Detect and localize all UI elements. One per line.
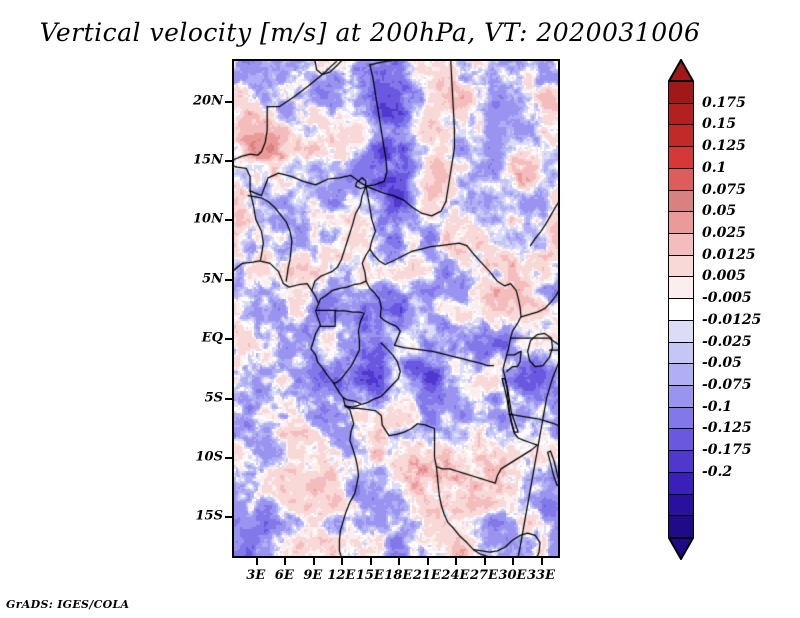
colorbar-tick-label: 0.075 xyxy=(702,182,746,198)
colorbar-tick-label: -0.05 xyxy=(702,355,742,371)
colorbar-tick-label: 0.005 xyxy=(702,268,746,284)
attribution-label: GrADS: IGES/COLA xyxy=(6,598,129,611)
colorbar: 0.1750.150.1250.10.0750.050.0250.01250.0… xyxy=(668,59,694,559)
map-plot-area: 20N15N10N5NEQ5S10S15S 3E6E9E12E15E18E21E… xyxy=(232,59,560,558)
latitude-tick-label: EQ xyxy=(202,331,223,346)
latitude-tick-label: 15S xyxy=(196,509,223,524)
colorbar-band xyxy=(668,255,694,278)
colorbar-tick-label: -0.005 xyxy=(702,290,752,306)
latitude-tick xyxy=(225,398,232,400)
colorbar-band xyxy=(668,168,694,191)
colorbar-tick-label: -0.025 xyxy=(702,334,752,350)
colorbar-tick-label: -0.075 xyxy=(702,377,752,393)
longitude-tick-label: 12E xyxy=(327,568,355,583)
colorbar-band xyxy=(668,428,694,451)
longitude-tick xyxy=(455,558,457,565)
colorbar-under-arrow xyxy=(668,537,694,559)
colorbar-tick-label: -0.1 xyxy=(702,399,732,415)
longitude-tick xyxy=(398,558,400,565)
colorbar-band xyxy=(668,385,694,408)
colorbar-band xyxy=(668,211,694,234)
colorbar-tick-label: 0.125 xyxy=(702,138,746,154)
longitude-tick xyxy=(341,558,343,565)
colorbar-band xyxy=(668,472,694,495)
colorbar-tick-label: 0.15 xyxy=(702,116,736,132)
longitude-tick-label: 3E xyxy=(246,568,265,583)
colorbar-band xyxy=(668,407,694,430)
longitude-tick-label: 9E xyxy=(303,568,322,583)
longitude-tick-label: 27E xyxy=(470,568,498,583)
longitude-tick-label: 15E xyxy=(356,568,384,583)
latitude-tick xyxy=(225,457,232,459)
colorbar-band xyxy=(668,233,694,256)
colorbar-over-arrow xyxy=(668,59,694,81)
colorbar-tick-label: 0.05 xyxy=(702,203,736,219)
colorbar-tick-label: 0.1 xyxy=(702,160,726,176)
latitude-tick xyxy=(225,160,232,162)
colorbar-band xyxy=(668,450,694,473)
latitude-tick xyxy=(225,219,232,221)
longitude-tick-label: 6E xyxy=(275,568,294,583)
colorbar-band xyxy=(668,298,694,321)
longitude-tick-label: 30E xyxy=(498,568,526,583)
colorbar-tick-label: -0.2 xyxy=(702,464,732,480)
longitude-tick xyxy=(541,558,543,565)
colorbar-band xyxy=(668,320,694,343)
colorbar-tick-label: 0.0125 xyxy=(702,247,756,263)
colorbar-band xyxy=(668,190,694,213)
longitude-tick xyxy=(284,558,286,565)
longitude-tick-label: 24E xyxy=(441,568,469,583)
latitude-tick xyxy=(225,279,232,281)
latitude-tick-label: 10S xyxy=(196,450,223,465)
longitude-tick xyxy=(370,558,372,565)
colorbar-tick-label: 0.175 xyxy=(702,95,746,111)
longitude-tick-label: 21E xyxy=(413,568,441,583)
colorbar-band xyxy=(668,124,694,147)
colorbar-band xyxy=(668,494,694,517)
page-title: Vertical velocity [m/s] at 200hPa, VT: 2… xyxy=(0,18,740,47)
colorbar-band xyxy=(668,363,694,386)
colorbar-tick-label: -0.0125 xyxy=(702,312,761,328)
longitude-tick xyxy=(313,558,315,565)
longitude-tick xyxy=(256,558,258,565)
longitude-tick xyxy=(512,558,514,565)
latitude-tick xyxy=(225,338,232,340)
latitude-tick-label: 15N xyxy=(193,152,223,167)
latitude-tick-label: 5N xyxy=(202,271,223,286)
colorbar-band xyxy=(668,146,694,169)
colorbar-tick-label: -0.125 xyxy=(702,420,752,436)
latitude-tick-label: 20N xyxy=(193,93,223,108)
latitude-tick xyxy=(225,101,232,103)
colorbar-tick-label: -0.175 xyxy=(702,442,752,458)
latitude-tick-label: 5S xyxy=(205,390,223,405)
longitude-tick-label: 33E xyxy=(527,568,555,583)
colorbar-band xyxy=(668,515,694,538)
colorbar-tick-label: 0.025 xyxy=(702,225,746,241)
colorbar-band xyxy=(668,276,694,299)
colorbar-band xyxy=(668,342,694,365)
longitude-tick-label: 18E xyxy=(384,568,412,583)
longitude-tick xyxy=(427,558,429,565)
latitude-tick xyxy=(225,516,232,518)
colorbar-band xyxy=(668,103,694,126)
colorbar-band xyxy=(668,81,694,104)
latitude-tick-label: 10N xyxy=(193,212,223,227)
longitude-tick xyxy=(484,558,486,565)
vertical-velocity-heatmap xyxy=(232,59,560,558)
